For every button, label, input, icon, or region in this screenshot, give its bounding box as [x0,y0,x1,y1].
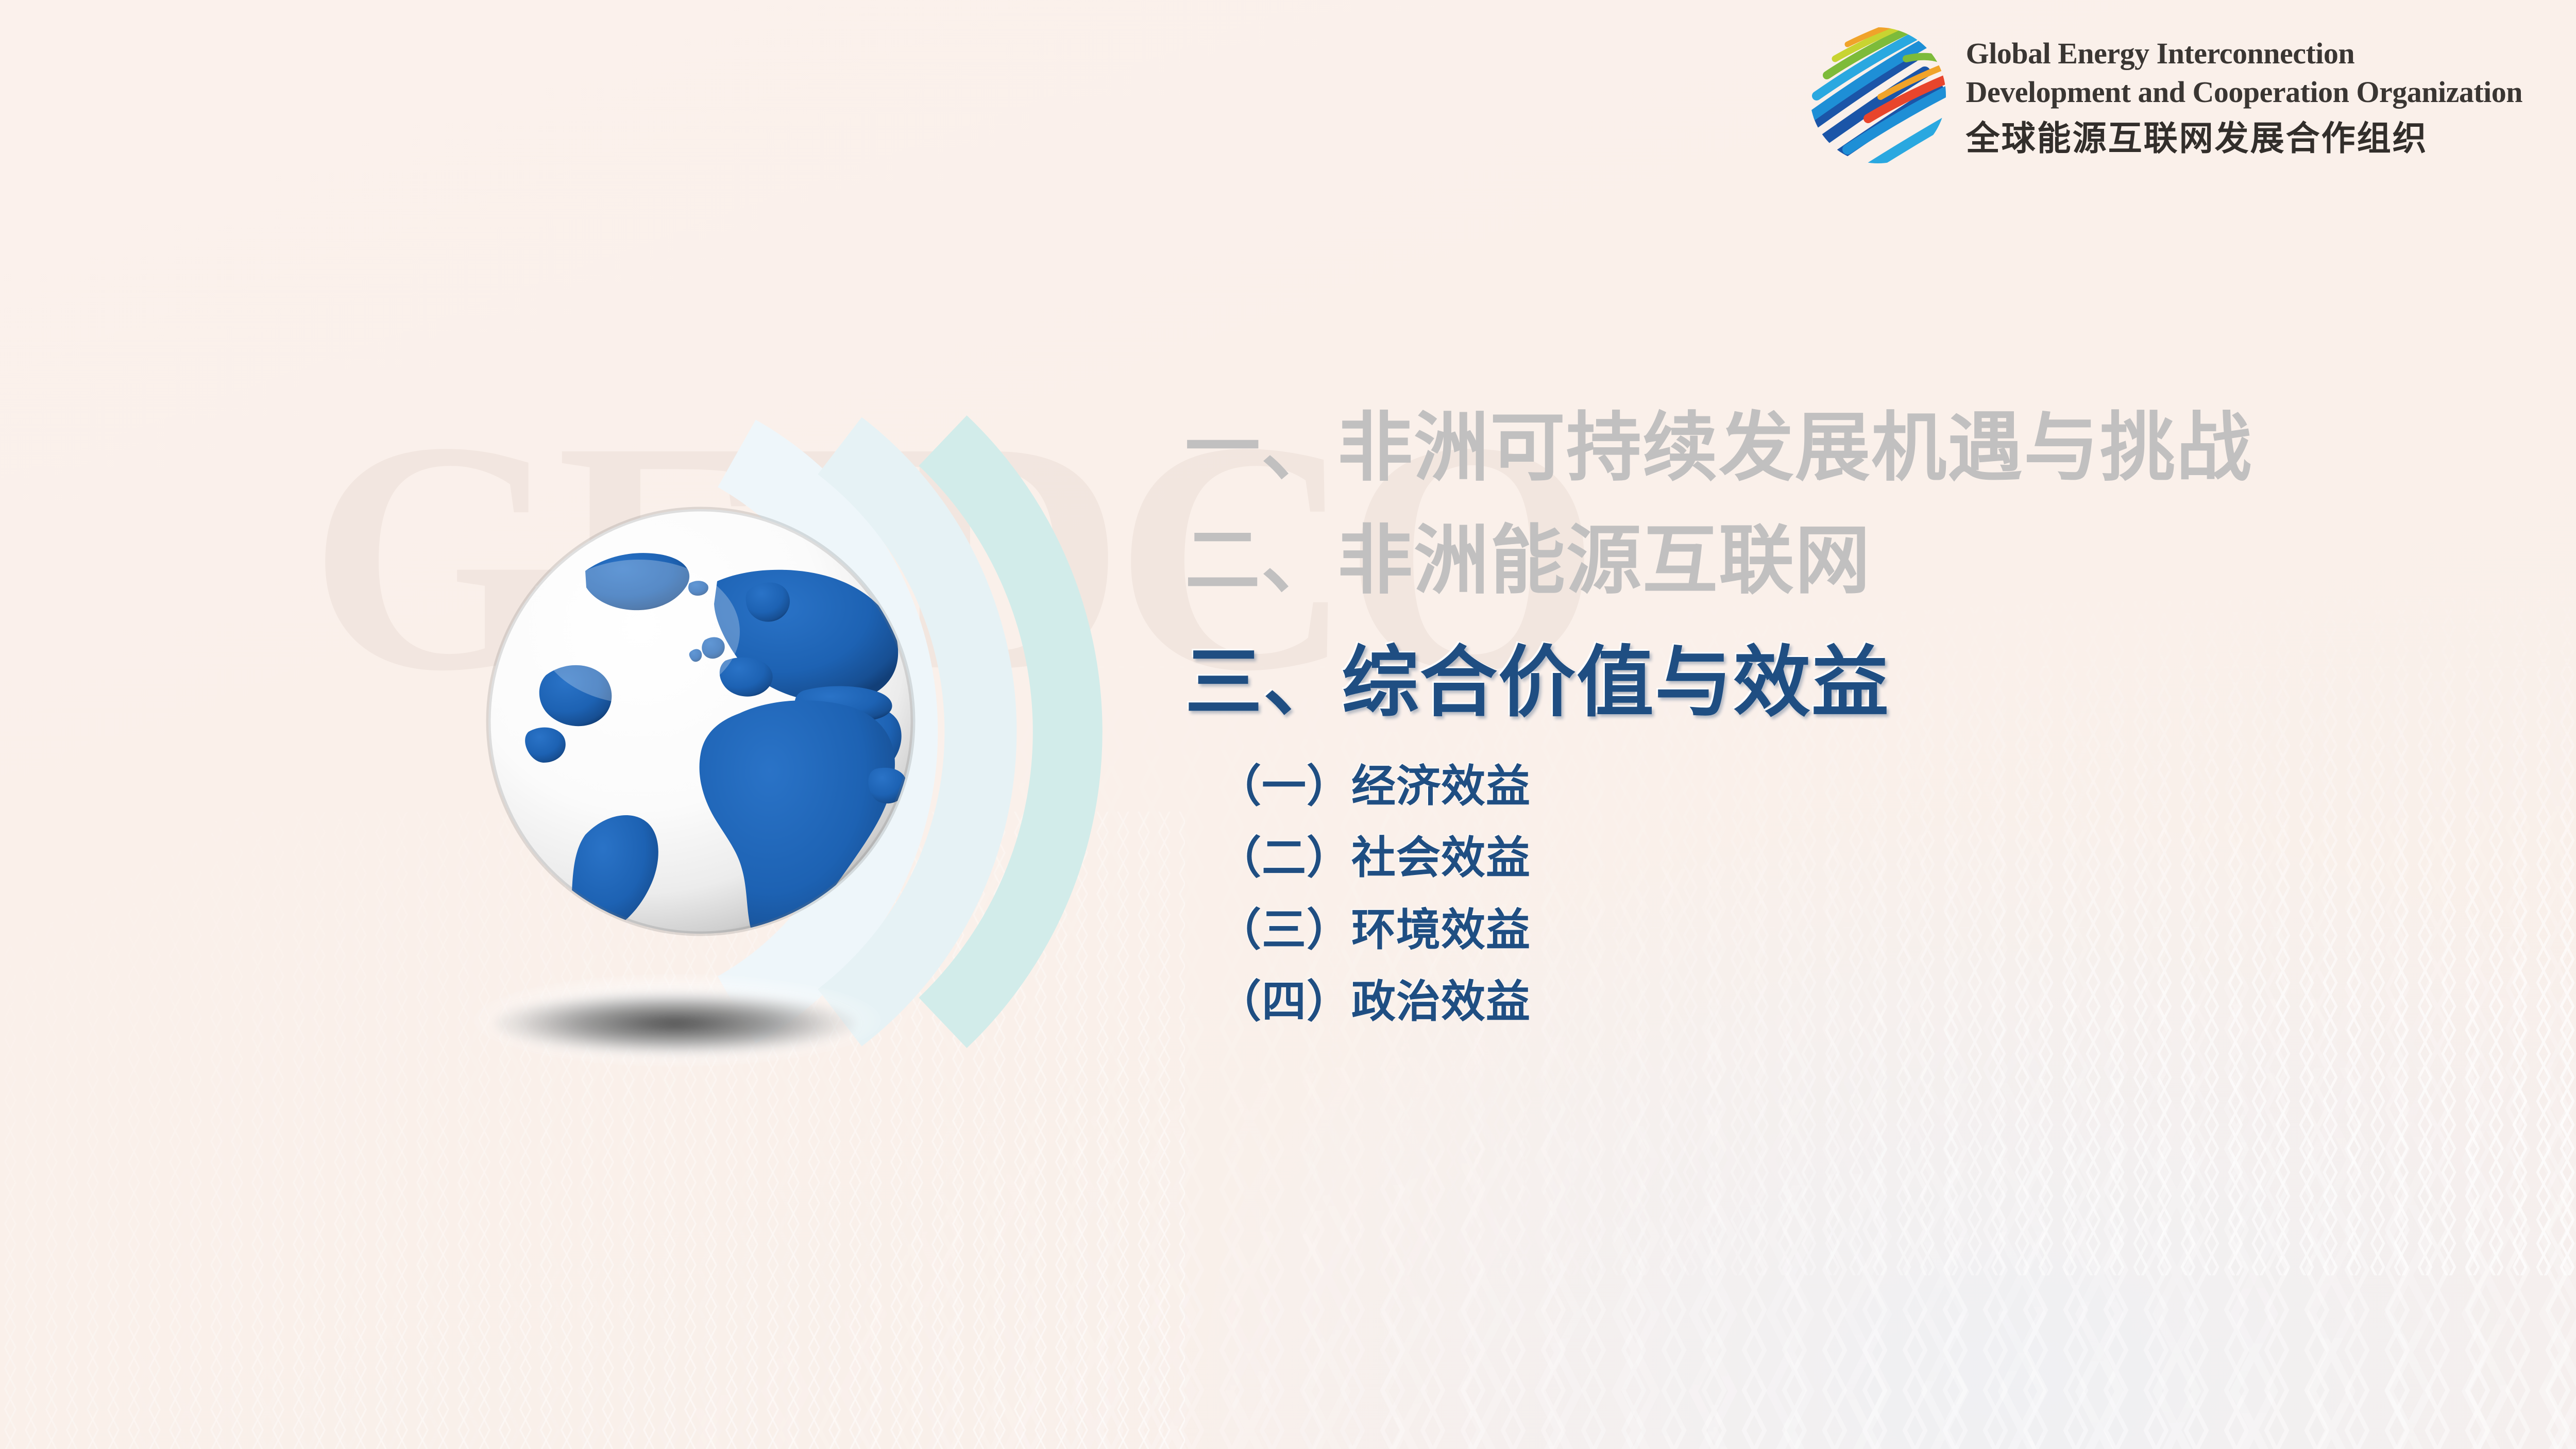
agenda-item-1[interactable]: 一、非洲可持续发展机遇与挑战 [1185,392,2524,504]
diamond-grid-left [0,812,1185,1449]
agenda-sub-item-4[interactable]: （四）政治效益 [1217,966,2524,1038]
globe-sphere [484,505,917,938]
agenda-sub-item-2[interactable]: （二）社会效益 [1217,822,2524,894]
logo-english-line1: Global Energy Interconnection [1966,34,2522,73]
agenda-item-3[interactable]: 三、综合价值与效益 [1185,627,2524,739]
agenda-list: 一、非洲可持续发展机遇与挑战 二、非洲能源互联网 三、综合价值与效益 （一）经济… [1185,392,2524,1038]
globe-graphic [443,505,907,1072]
agenda-item-2[interactable]: 二、非洲能源互联网 [1185,504,2524,617]
geidco-globe-icon [1803,21,1953,170]
logo-english-line2: Development and Cooperation Organization [1966,73,2522,111]
globe-drop-shadow [495,992,855,1054]
logo-text-block: Global Energy Interconnection Developmen… [1966,31,2522,160]
agenda-sub-list: （一）经济效益 （二）社会效益 （三）环境效益 （四）政治效益 [1185,751,2524,1038]
globe-shadow-glow [474,974,881,1067]
agenda-sub-item-1[interactable]: （一）经济效益 [1217,751,2524,822]
logo-chinese-name: 全球能源互联网发展合作组织 [1966,117,2522,160]
presentation-slide: GEIDCO [0,0,2576,1449]
agenda-sub-item-3[interactable]: （三）环境效益 [1217,895,2524,966]
geidco-logo: Global Energy Interconnection Developmen… [1803,21,2522,170]
